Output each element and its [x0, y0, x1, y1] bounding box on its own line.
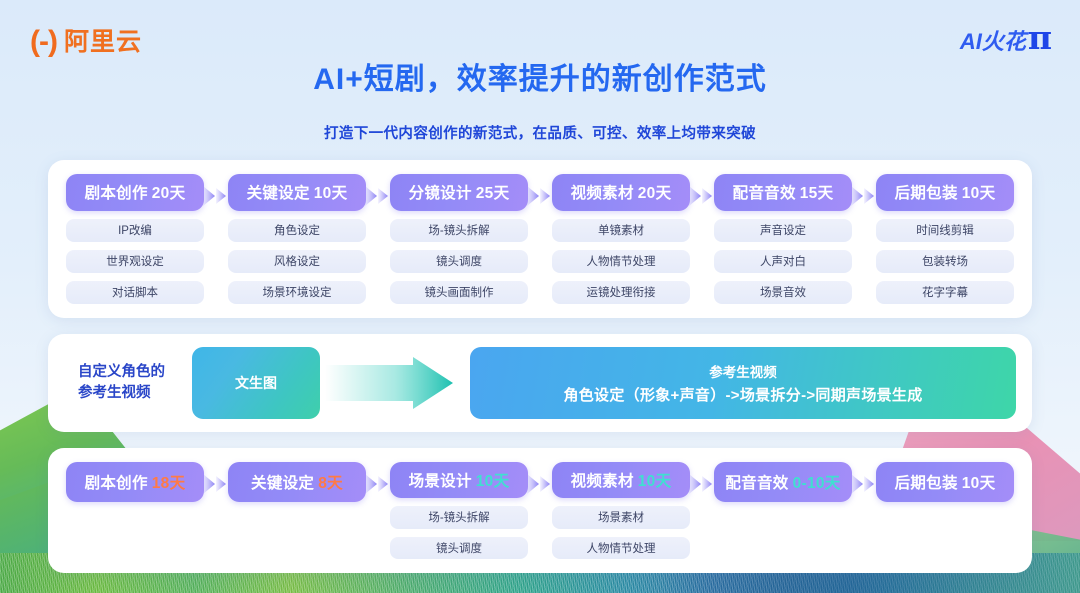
traditional-stage-days: 25天	[476, 181, 510, 203]
ai-stage-days: 10天	[476, 469, 510, 491]
ai-stage-name: 关键设定	[251, 471, 314, 493]
chevron-right-icon	[689, 184, 715, 208]
traditional-stage-name: 剧本创作	[85, 181, 148, 203]
traditional-stage-header[interactable]: 关键设定10天	[228, 174, 366, 211]
flow-arrow	[320, 355, 470, 411]
traditional-stage-days: 15天	[800, 181, 834, 203]
ai-stage-name: 剧本创作	[85, 471, 148, 493]
ai-stage-name: 视频素材	[571, 469, 634, 491]
ai-stage-header[interactable]: 视频素材10天	[552, 462, 690, 498]
traditional-subitem[interactable]: 人声对白	[714, 250, 852, 273]
traditional-stage-name: 后期包装	[895, 181, 958, 203]
ai-stage-days: 10天	[962, 471, 996, 493]
traditional-stage: 视频素材20天单镜素材人物情节处理运镜处理衔接	[552, 174, 690, 304]
traditional-stage-header[interactable]: 分镜设计25天	[390, 174, 528, 211]
traditional-stage-name: 视频素材	[571, 181, 634, 203]
reference-video-box[interactable]: 参考生视频 角色设定（形象+声音）->场景拆分->同期声场景生成	[470, 347, 1016, 419]
traditional-subitem[interactable]: 角色设定	[228, 219, 366, 242]
custom-character-row: 自定义角色的 参考生视频 文生图 参考生视频 角色设定（形象+声音）->场景拆分…	[48, 334, 1032, 432]
ai-stage-header[interactable]: 关键设定8天	[228, 462, 366, 502]
ai-stage: 剧本创作18天	[66, 462, 204, 559]
chevron-right-icon	[365, 472, 391, 496]
traditional-stage-header[interactable]: 剧本创作20天	[66, 174, 204, 211]
reference-video-line1: 参考生视频	[709, 361, 777, 381]
ai-stage-header[interactable]: 剧本创作18天	[66, 462, 204, 502]
ai-stage-name: 场景设计	[409, 469, 472, 491]
traditional-subitem[interactable]: 声音设定	[714, 219, 852, 242]
page-header: (-) 阿里云 AI火花 π AI+短剧，效率提升的新创作范式 打造下一代内容创…	[0, 0, 1080, 150]
traditional-subitem[interactable]: 场景环境设定	[228, 281, 366, 304]
ai-stage-days: 10天	[638, 469, 672, 491]
traditional-subitem[interactable]: 对话脚本	[66, 281, 204, 304]
ai-stage-days: 8天	[318, 471, 343, 493]
ai-subitem[interactable]: 场景素材	[552, 506, 690, 529]
aliyun-logo-mark-icon: (-)	[30, 27, 57, 57]
traditional-subitem[interactable]: 运镜处理衔接	[552, 281, 690, 304]
ai-spark-logo-text: AI火花	[960, 24, 1026, 56]
chevron-right-icon	[527, 184, 553, 208]
ai-subitem[interactable]: 场-镜头拆解	[390, 506, 528, 529]
chevron-right-icon	[203, 472, 229, 496]
traditional-stage-days: 20天	[638, 181, 672, 203]
traditional-subitem[interactable]: 场-镜头拆解	[390, 219, 528, 242]
traditional-subitem[interactable]: 时间线剪辑	[876, 219, 1014, 242]
traditional-stage-days: 20天	[152, 181, 186, 203]
traditional-subitem[interactable]: 包装转场	[876, 250, 1014, 273]
traditional-subitem[interactable]: 镜头画面制作	[390, 281, 528, 304]
traditional-stage: 配音音效15天声音设定人声对白场景音效	[714, 174, 852, 304]
ai-pipeline: 剧本创作18天关键设定8天场景设计10天场-镜头拆解镜头调度视频素材10天场景素…	[48, 448, 1032, 573]
ai-stage: 后期包装10天	[876, 462, 1014, 559]
chevron-right-icon	[851, 472, 877, 496]
traditional-stage-days: 10天	[314, 181, 348, 203]
arrow-right-gradient-icon	[325, 355, 465, 411]
pi-symbol-icon: π	[1028, 25, 1052, 51]
traditional-stage-header[interactable]: 配音音效15天	[714, 174, 852, 211]
traditional-stage-header[interactable]: 视频素材20天	[552, 174, 690, 211]
traditional-subitem[interactable]: 风格设定	[228, 250, 366, 273]
aliyun-logo: (-) 阿里云	[30, 27, 142, 57]
ai-stage: 关键设定8天	[228, 462, 366, 559]
traditional-subitem[interactable]: 单镜素材	[552, 219, 690, 242]
chevron-right-icon	[203, 184, 229, 208]
page-subtitle: 打造下一代内容创作的新范式，在品质、可控、效率上均带来突破	[0, 122, 1080, 143]
traditional-subitem[interactable]: 人物情节处理	[552, 250, 690, 273]
traditional-stage: 关键设定10天角色设定风格设定场景环境设定	[228, 174, 366, 304]
traditional-pipeline-card: 剧本创作20天IP改编世界观设定对话脚本关键设定10天角色设定风格设定场景环境设…	[48, 160, 1032, 318]
traditional-stage-name: 配音音效	[733, 181, 796, 203]
text-to-image-box[interactable]: 文生图	[192, 347, 320, 419]
ai-stage-days: 18天	[152, 471, 186, 493]
traditional-subitem[interactable]: 花字字幕	[876, 281, 1014, 304]
ai-subitem[interactable]: 人物情节处理	[552, 537, 690, 560]
custom-character-card: 自定义角色的 参考生视频 文生图 参考生视频 角色设定（形象+声音）->场景拆分…	[48, 334, 1032, 432]
chevron-right-icon	[689, 472, 715, 496]
ai-pipeline-card: 剧本创作18天关键设定8天场景设计10天场-镜头拆解镜头调度视频素材10天场景素…	[48, 448, 1032, 573]
page-title: AI+短剧，效率提升的新创作范式	[0, 54, 1080, 98]
ai-stage-days: 0-10天	[793, 471, 841, 493]
traditional-stage: 分镜设计25天场-镜头拆解镜头调度镜头画面制作	[390, 174, 528, 304]
traditional-subitem[interactable]: 世界观设定	[66, 250, 204, 273]
ai-subitem[interactable]: 镜头调度	[390, 537, 528, 560]
ai-stage-header[interactable]: 后期包装10天	[876, 462, 1014, 502]
traditional-stage-name: 关键设定	[247, 181, 310, 203]
ai-stage: 配音音效0-10天	[714, 462, 852, 559]
traditional-stage-days: 10天	[962, 181, 996, 203]
chevron-right-icon	[365, 184, 391, 208]
traditional-subitem[interactable]: 镜头调度	[390, 250, 528, 273]
traditional-stage: 后期包装10天时间线剪辑包装转场花字字幕	[876, 174, 1014, 304]
traditional-stage: 剧本创作20天IP改编世界观设定对话脚本	[66, 174, 204, 304]
chevron-right-icon	[527, 472, 553, 496]
traditional-stage-header[interactable]: 后期包装10天	[876, 174, 1014, 211]
ai-spark-logo: AI火花 π	[960, 24, 1052, 56]
ai-stage-name: 后期包装	[895, 471, 958, 493]
traditional-subitem[interactable]: 场景音效	[714, 281, 852, 304]
ai-stage: 视频素材10天场景素材人物情节处理	[552, 462, 690, 559]
ai-stage: 场景设计10天场-镜头拆解镜头调度	[390, 462, 528, 559]
traditional-pipeline: 剧本创作20天IP改编世界观设定对话脚本关键设定10天角色设定风格设定场景环境设…	[48, 160, 1032, 318]
ai-stage-name: 配音音效	[725, 471, 788, 493]
chevron-right-icon	[851, 184, 877, 208]
text-to-image-label: 文生图	[235, 373, 277, 393]
traditional-subitem[interactable]: IP改编	[66, 219, 204, 242]
ai-stage-header[interactable]: 场景设计10天	[390, 462, 528, 498]
custom-character-label-line2: 参考生视频	[78, 383, 192, 404]
custom-character-label: 自定义角色的 参考生视频	[64, 362, 192, 404]
reference-video-line2: 角色设定（形象+声音）->场景拆分->同期声场景生成	[563, 384, 922, 405]
traditional-stage-name: 分镜设计	[409, 181, 472, 203]
custom-character-label-line1: 自定义角色的	[78, 362, 192, 383]
aliyun-logo-text: 阿里云	[64, 30, 142, 55]
ai-stage-header[interactable]: 配音音效0-10天	[714, 462, 852, 502]
